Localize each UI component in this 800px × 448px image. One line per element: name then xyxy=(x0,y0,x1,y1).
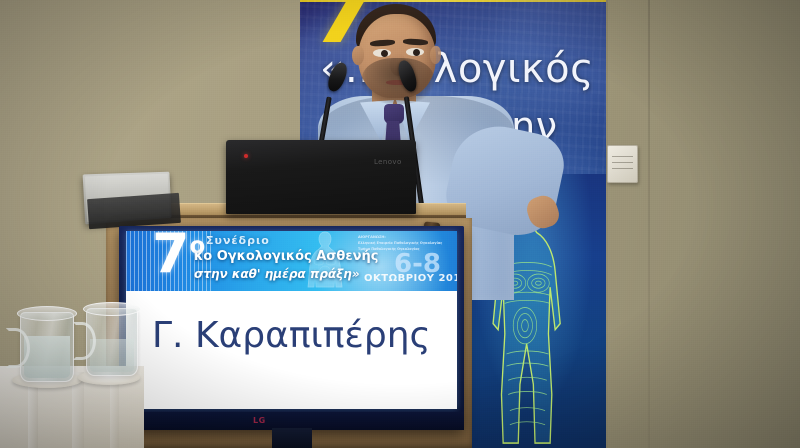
thinkpad-laptop[interactable]: Lenovo xyxy=(226,140,416,214)
projected-title-slide: 7ο Συνέδριο κο Ογκολογικός Ασθενής στην … xyxy=(126,231,457,409)
slide-organizer-line-1: Ελληνική Εταιρεία Παθολογικής Ογκολογίας xyxy=(358,241,442,246)
pupil-right xyxy=(413,49,420,56)
monitor-stand xyxy=(272,428,312,448)
slide-title-line-2: στην καθ' ημέρα πράξη» xyxy=(194,267,360,281)
slide-title-line-1: κο Ογκολογικός Ασθενής xyxy=(194,249,378,264)
jug-rim-left xyxy=(17,306,77,321)
pupil-left xyxy=(381,50,388,57)
slide-numeral-value: 7 xyxy=(152,231,190,285)
slide-month-year: ΟΚΤΩΒΡΙΟΥ 2017 xyxy=(364,273,457,284)
silver-laptop-base xyxy=(87,193,181,229)
thinkpad-logo-dot xyxy=(244,154,248,158)
slide-body: Γ. Καραπιπέρης xyxy=(126,291,457,409)
slide-header: 7ο Συνέδριο κο Ογκολογικός Ασθενής στην … xyxy=(126,231,457,291)
slide-speaker-name: Γ. Καραπιπέρης xyxy=(152,315,431,356)
lg-logo: LG xyxy=(253,416,266,425)
slide-badge: Συνέδριο xyxy=(206,234,270,247)
slide-organizer-label: ΔΙΟΡΓΑΝΩΣΗ: xyxy=(358,235,386,240)
laptop-brand-label: Lenovo xyxy=(374,158,402,166)
jug-rim-right xyxy=(83,302,141,316)
wall-thermostat xyxy=(607,145,638,183)
ear-left xyxy=(352,46,364,65)
screenshot-root: 7 «...κολογικός ...την xyxy=(0,0,800,448)
wall-seam-secondary xyxy=(606,0,608,448)
ear-right xyxy=(430,46,441,64)
water-level-right xyxy=(90,339,134,372)
wall-seam xyxy=(648,0,650,448)
water-level-left xyxy=(24,336,70,378)
lg-monitor[interactable]: 7ο Συνέδριο κο Ογκολογικός Ασθενής στην … xyxy=(119,226,464,430)
